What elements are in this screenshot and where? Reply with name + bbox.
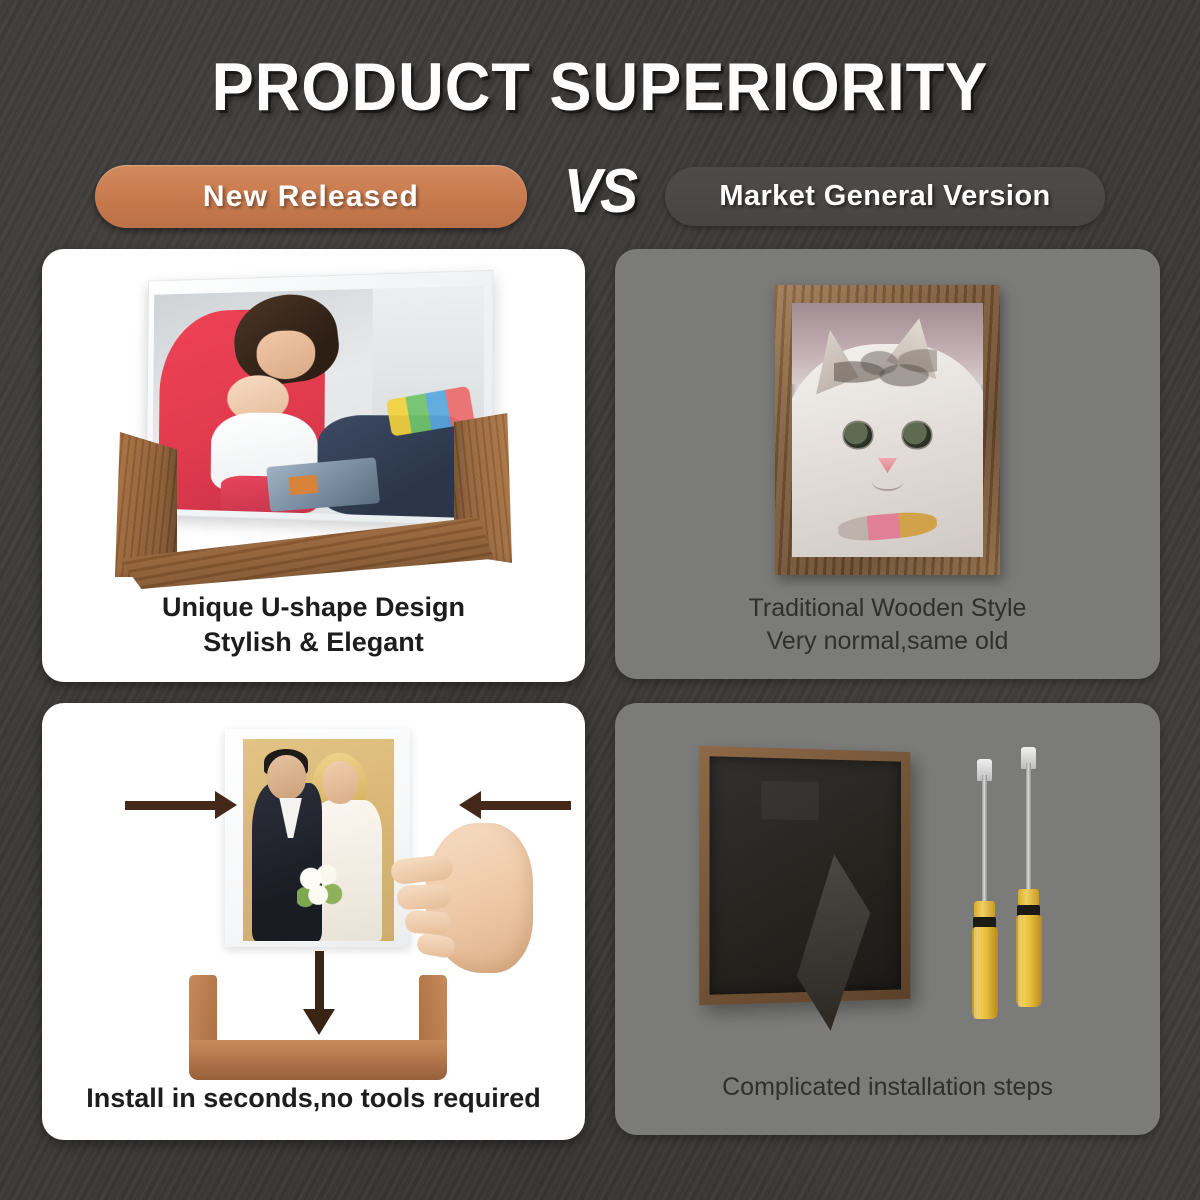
illustration-install-diagram [42, 703, 585, 1140]
card-caption: Unique U-shape Design Stylish & Elegant [42, 590, 585, 660]
arrow-right-icon [125, 801, 217, 810]
wooden-u-stand [97, 411, 532, 597]
hand-illustration [383, 805, 533, 985]
cat-photo [792, 303, 983, 557]
wedding-photo [243, 739, 394, 941]
screwdriver-icon [1012, 763, 1046, 973]
page-title: PRODUCT SUPERIORITY [42, 48, 1158, 126]
card-bad-design: Traditional Wooden Style Very normal,sam… [615, 249, 1160, 679]
vs-label: VS [552, 156, 648, 227]
badge-new-released: New Released [95, 165, 527, 228]
card-bad-install: Complicated installation steps [615, 703, 1160, 1135]
card-good-install: Install in seconds,no tools required [42, 703, 585, 1140]
card-good-design: Unique U-shape Design Stylish & Elegant [42, 249, 585, 682]
u-shape-base [189, 975, 447, 1080]
badge-market-general-version-label: Market General Version [719, 180, 1050, 213]
screwdriver-icon [968, 775, 1002, 985]
card-caption: Traditional Wooden Style Very normal,sam… [615, 592, 1160, 657]
card-caption: Complicated installation steps [615, 1071, 1160, 1104]
card-caption: Install in seconds,no tools required [42, 1081, 585, 1116]
badge-market-general-version: Market General Version [665, 167, 1105, 226]
wooden-frame-border [775, 285, 1000, 575]
badge-new-released-label: New Released [203, 180, 419, 214]
